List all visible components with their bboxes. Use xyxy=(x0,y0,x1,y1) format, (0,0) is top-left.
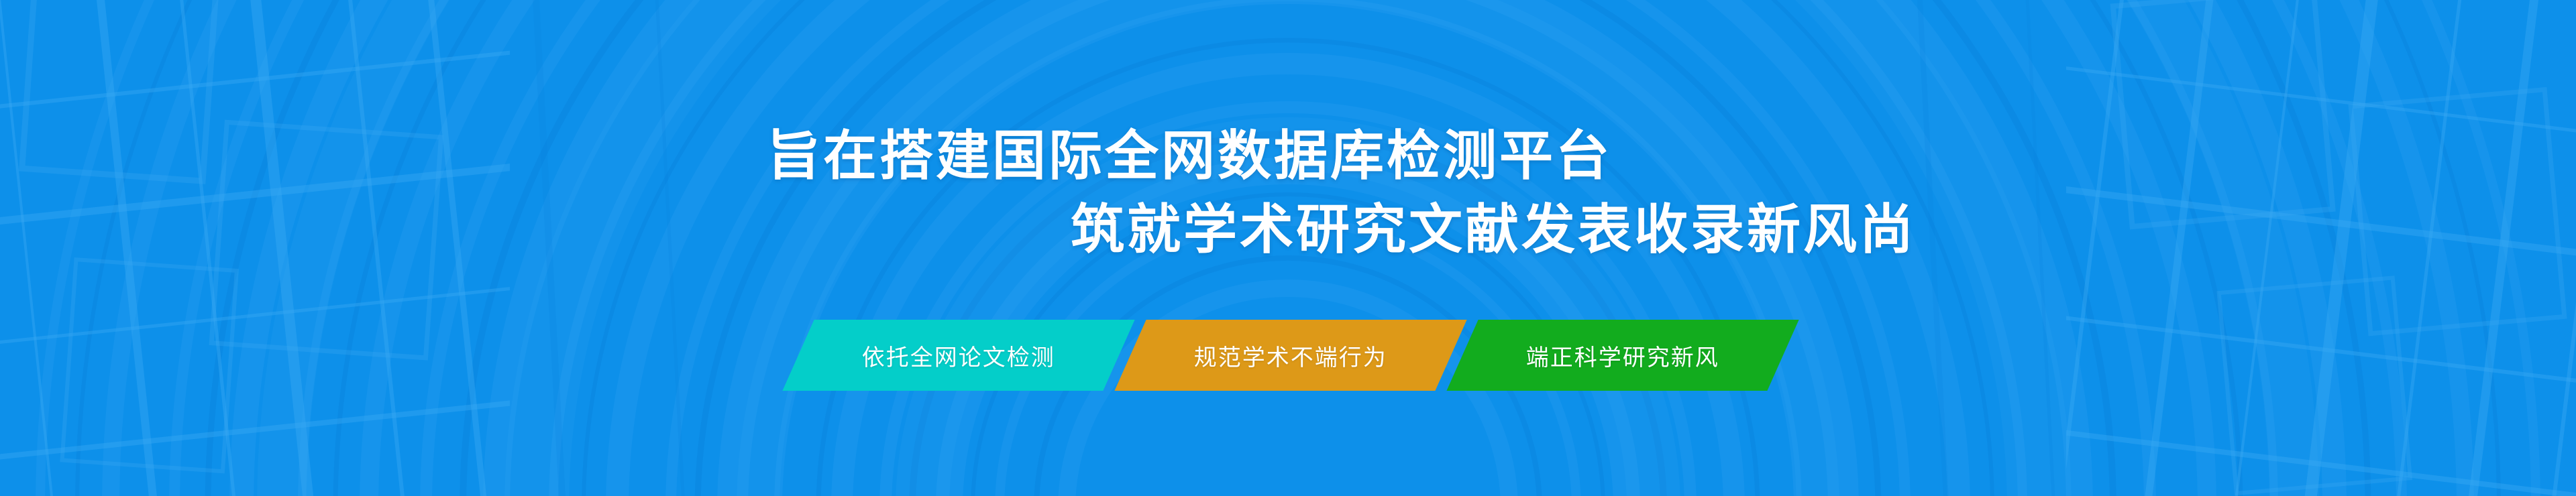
grid-lines-decoration xyxy=(0,0,2576,496)
feature-tab-research-ethos[interactable]: 端正科学研究新风 xyxy=(1446,320,1799,391)
feature-tab-bar: 依托全网论文检测 规范学术不端行为 端正科学研究新风 xyxy=(0,320,2576,392)
headline-line-1: 旨在搭建国际全网数据库检测平台 xyxy=(767,129,1612,183)
headline-line-2: 筑就学术研究文献发表收录新风尚 xyxy=(1071,203,1916,257)
feature-tab-label: 规范学术不端行为 xyxy=(1194,339,1387,372)
feature-tab-label: 端正科学研究新风 xyxy=(1526,339,1719,372)
feature-tab-paper-detection[interactable]: 依托全网论文检测 xyxy=(782,320,1134,391)
feature-tab-label: 依托全网论文检测 xyxy=(862,339,1055,372)
headline-block: 旨在搭建国际全网数据库检测平台 筑就学术研究文献发表收录新风尚 xyxy=(0,0,2576,496)
arc-background-decoration xyxy=(0,0,2576,496)
promo-banner: 旨在搭建国际全网数据库检测平台 筑就学术研究文献发表收录新风尚 依托全网论文检测… xyxy=(0,0,2576,496)
feature-tab-academic-misconduct[interactable]: 规范学术不端行为 xyxy=(1114,320,1466,391)
